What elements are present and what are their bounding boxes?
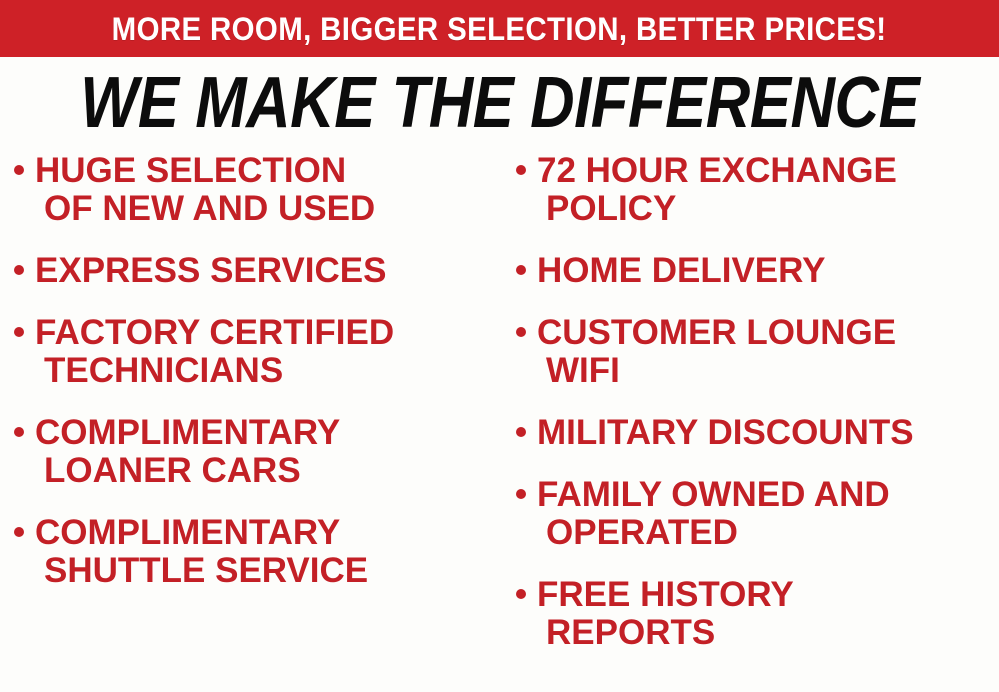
list-item: FREE HISTORYREPORTS (516, 576, 999, 652)
list-item-line-2: OF NEW AND USED (35, 190, 375, 228)
list-item: MILITARY DISCOUNTS (516, 414, 999, 452)
list-item: 72 HOUR EXCHANGEPOLICY (516, 152, 999, 228)
list-item-label: MILITARY DISCOUNTS (537, 414, 914, 452)
list-item-line-2: WIFI (537, 352, 896, 390)
bullet-dot-icon (14, 527, 24, 537)
bullet-dot-icon (14, 165, 24, 175)
list-item-line-1: HOME DELIVERY (537, 251, 825, 290)
list-item-label: COMPLIMENTARYSHUTTLE SERVICE (35, 514, 368, 590)
bullet-dot-icon (516, 427, 526, 437)
bullet-dot-icon (516, 265, 526, 275)
list-item-line-2: TECHNICIANS (35, 352, 394, 390)
list-item: HUGE SELECTIONOF NEW AND USED (14, 152, 494, 228)
list-item-line-1: 72 HOUR EXCHANGE (537, 151, 897, 190)
list-item: FAMILY OWNED ANDOPERATED (516, 476, 999, 552)
list-item: COMPLIMENTARYSHUTTLE SERVICE (14, 514, 494, 590)
list-item: CUSTOMER LOUNGEWIFI (516, 314, 999, 390)
list-item-line-1: HUGE SELECTION (35, 151, 346, 190)
top-banner: MORE ROOM, BIGGER SELECTION, BETTER PRIC… (0, 0, 999, 57)
list-item-line-1: CUSTOMER LOUNGE (537, 313, 896, 352)
bullet-dot-icon (516, 327, 526, 337)
list-item: FACTORY CERTIFIEDTECHNICIANS (14, 314, 494, 390)
list-item-label: EXPRESS SERVICES (35, 252, 386, 290)
bullet-dot-icon (516, 165, 526, 175)
list-item-line-1: MILITARY DISCOUNTS (537, 413, 914, 452)
list-item-line-1: FREE HISTORY (537, 575, 794, 614)
list-item-label: HOME DELIVERY (537, 252, 825, 290)
bullet-dot-icon (14, 327, 24, 337)
list-item-label: FACTORY CERTIFIEDTECHNICIANS (35, 314, 394, 390)
list-item-label: FREE HISTORYREPORTS (537, 576, 794, 652)
list-item-line-1: COMPLIMENTARY (35, 513, 340, 552)
banner-headline-text: MORE ROOM, BIGGER SELECTION, BETTER PRIC… (112, 13, 887, 45)
benefits-column-left: HUGE SELECTIONOF NEW AND USED EXPRESS SE… (14, 152, 494, 692)
list-item-line-1: EXPRESS SERVICES (35, 251, 386, 290)
list-item-line-1: FAMILY OWNED AND (537, 475, 890, 514)
list-item-label: FAMILY OWNED ANDOPERATED (537, 476, 890, 552)
bullet-dot-icon (14, 427, 24, 437)
list-item: COMPLIMENTARYLOANER CARS (14, 414, 494, 490)
list-item: HOME DELIVERY (516, 252, 999, 290)
list-item-line-1: FACTORY CERTIFIED (35, 313, 394, 352)
list-item-label: COMPLIMENTARYLOANER CARS (35, 414, 340, 490)
bullet-dot-icon (516, 489, 526, 499)
list-item-line-2: REPORTS (537, 614, 794, 652)
bullet-dot-icon (516, 589, 526, 599)
list-item-line-2: POLICY (537, 190, 897, 228)
list-item-label: 72 HOUR EXCHANGEPOLICY (537, 152, 897, 228)
benefits-columns: HUGE SELECTIONOF NEW AND USED EXPRESS SE… (0, 152, 999, 692)
headline-container: WE MAKE THE DIFFERENCE (0, 63, 999, 141)
benefits-column-right: 72 HOUR EXCHANGEPOLICY HOME DELIVERY CUS… (516, 152, 999, 692)
promotional-poster: MORE ROOM, BIGGER SELECTION, BETTER PRIC… (0, 0, 999, 692)
list-item-label: HUGE SELECTIONOF NEW AND USED (35, 152, 375, 228)
bullet-dot-icon (14, 265, 24, 275)
list-item-line-2: OPERATED (537, 514, 890, 552)
list-item-line-2: SHUTTLE SERVICE (35, 552, 368, 590)
list-item: EXPRESS SERVICES (14, 252, 494, 290)
list-item-label: CUSTOMER LOUNGEWIFI (537, 314, 896, 390)
list-item-line-1: COMPLIMENTARY (35, 413, 340, 452)
list-item-line-2: LOANER CARS (35, 452, 340, 490)
page-title: WE MAKE THE DIFFERENCE (80, 66, 919, 139)
